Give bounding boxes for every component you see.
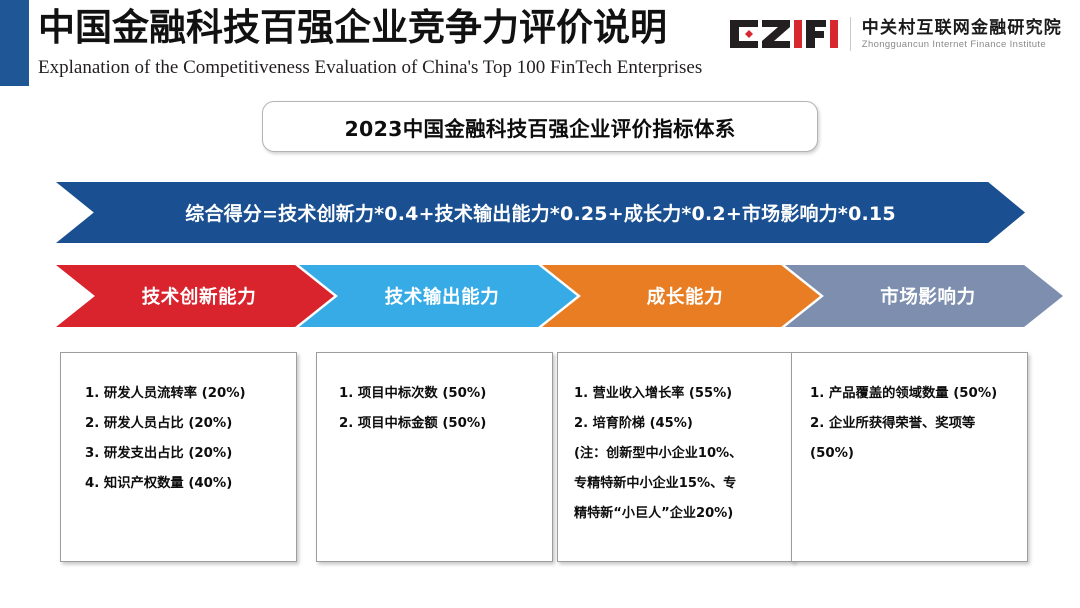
score-formula-banner: 综合得分=技术创新力*0.4+技术输出能力*0.25+成长力*0.2+市场影响力… bbox=[56, 182, 1025, 243]
indicator-item: 2. 研发人员占比 (20%) bbox=[85, 409, 284, 439]
indicator-box-growth: 1. 营业收入增长率 (55%) 2. 培育阶梯 (45%) (注：创新型中小企… bbox=[557, 352, 794, 562]
indicator-system-title: 2023中国金融科技百强企业评价指标体系 bbox=[344, 112, 735, 142]
page-subtitle: Explanation of the Competitiveness Evalu… bbox=[38, 55, 702, 81]
slide-canvas: 中国金融科技百强企业竞争力评价说明 Explanation of the Com… bbox=[0, 0, 1080, 608]
chevron-growth: 成长能力 bbox=[542, 265, 820, 327]
chevron-technical-output: 技术输出能力 bbox=[299, 265, 577, 327]
organization-logo: 中关村互联网金融研究院 Zhongguancun Internet Financ… bbox=[728, 10, 1062, 58]
score-formula-text: 综合得分=技术创新力*0.4+技术输出能力*0.25+成长力*0.2+市场影响力… bbox=[185, 199, 896, 226]
indicator-box-market-influence: 1. 产品覆盖的领域数量 (50%) 2. 企业所获得荣誉、奖项等 (50%) bbox=[791, 352, 1028, 562]
indicator-item: 1. 产品覆盖的领域数量 (50%) bbox=[810, 379, 1015, 409]
czifi-logomark-icon bbox=[728, 19, 840, 49]
chevron-label: 技术输出能力 bbox=[385, 283, 500, 309]
indicator-item: 3. 研发支出占比 (20%) bbox=[85, 439, 284, 469]
logo-name-en: Zhongguancun Internet Finance Institute bbox=[862, 38, 1062, 51]
indicator-item: (50%) bbox=[810, 439, 1015, 469]
chevron-label: 成长能力 bbox=[647, 283, 723, 309]
indicator-item: 4. 知识产权数量 (40%) bbox=[85, 469, 284, 499]
logo-name-cn: 中关村互联网金融研究院 bbox=[862, 18, 1062, 38]
indicator-item: 1. 研发人员流转率 (20%) bbox=[85, 379, 284, 409]
indicator-item: 1. 营业收入增长率 (55%) bbox=[574, 379, 781, 409]
indicator-item: 1. 项目中标次数 (50%) bbox=[339, 379, 540, 409]
chevron-market-influence: 市场影响力 bbox=[785, 265, 1063, 327]
chevron-label: 市场影响力 bbox=[880, 283, 976, 309]
indicator-item: 2. 培育阶梯 (45%) bbox=[574, 409, 781, 439]
indicator-system-title-box: 2023中国金融科技百强企业评价指标体系 bbox=[262, 101, 818, 152]
indicator-note: 精特新“小巨人”企业20%) bbox=[574, 499, 781, 529]
indicator-note: (注：创新型中小企业10%、 bbox=[574, 439, 781, 469]
indicator-box-technical-output: 1. 项目中标次数 (50%) 2. 项目中标金额 (50%) bbox=[316, 352, 553, 562]
header: 中国金融科技百强企业竞争力评价说明 Explanation of the Com… bbox=[38, 6, 702, 81]
chevron-technical-innovation: 技术创新能力 bbox=[56, 265, 334, 327]
indicator-note: 专精特新中小企业15%、专 bbox=[574, 469, 781, 499]
indicator-item: 2. 企业所获得荣誉、奖项等 bbox=[810, 409, 1015, 439]
dimension-chevron-row: 技术创新能力 技术输出能力 成长能力 市场影响力 bbox=[56, 265, 1026, 327]
indicator-detail-row: 1. 研发人员流转率 (20%) 2. 研发人员占比 (20%) 3. 研发支出… bbox=[60, 352, 1023, 562]
indicator-box-technical-innovation: 1. 研发人员流转率 (20%) 2. 研发人员占比 (20%) 3. 研发支出… bbox=[60, 352, 297, 562]
header-accent-bar bbox=[0, 0, 29, 86]
logo-divider bbox=[850, 17, 851, 51]
page-title: 中国金融科技百强企业竞争力评价说明 bbox=[38, 6, 702, 52]
chevron-label: 技术创新能力 bbox=[142, 283, 257, 309]
logo-wordmark: 中关村互联网金融研究院 Zhongguancun Internet Financ… bbox=[862, 18, 1062, 51]
indicator-item: 2. 项目中标金额 (50%) bbox=[339, 409, 540, 439]
